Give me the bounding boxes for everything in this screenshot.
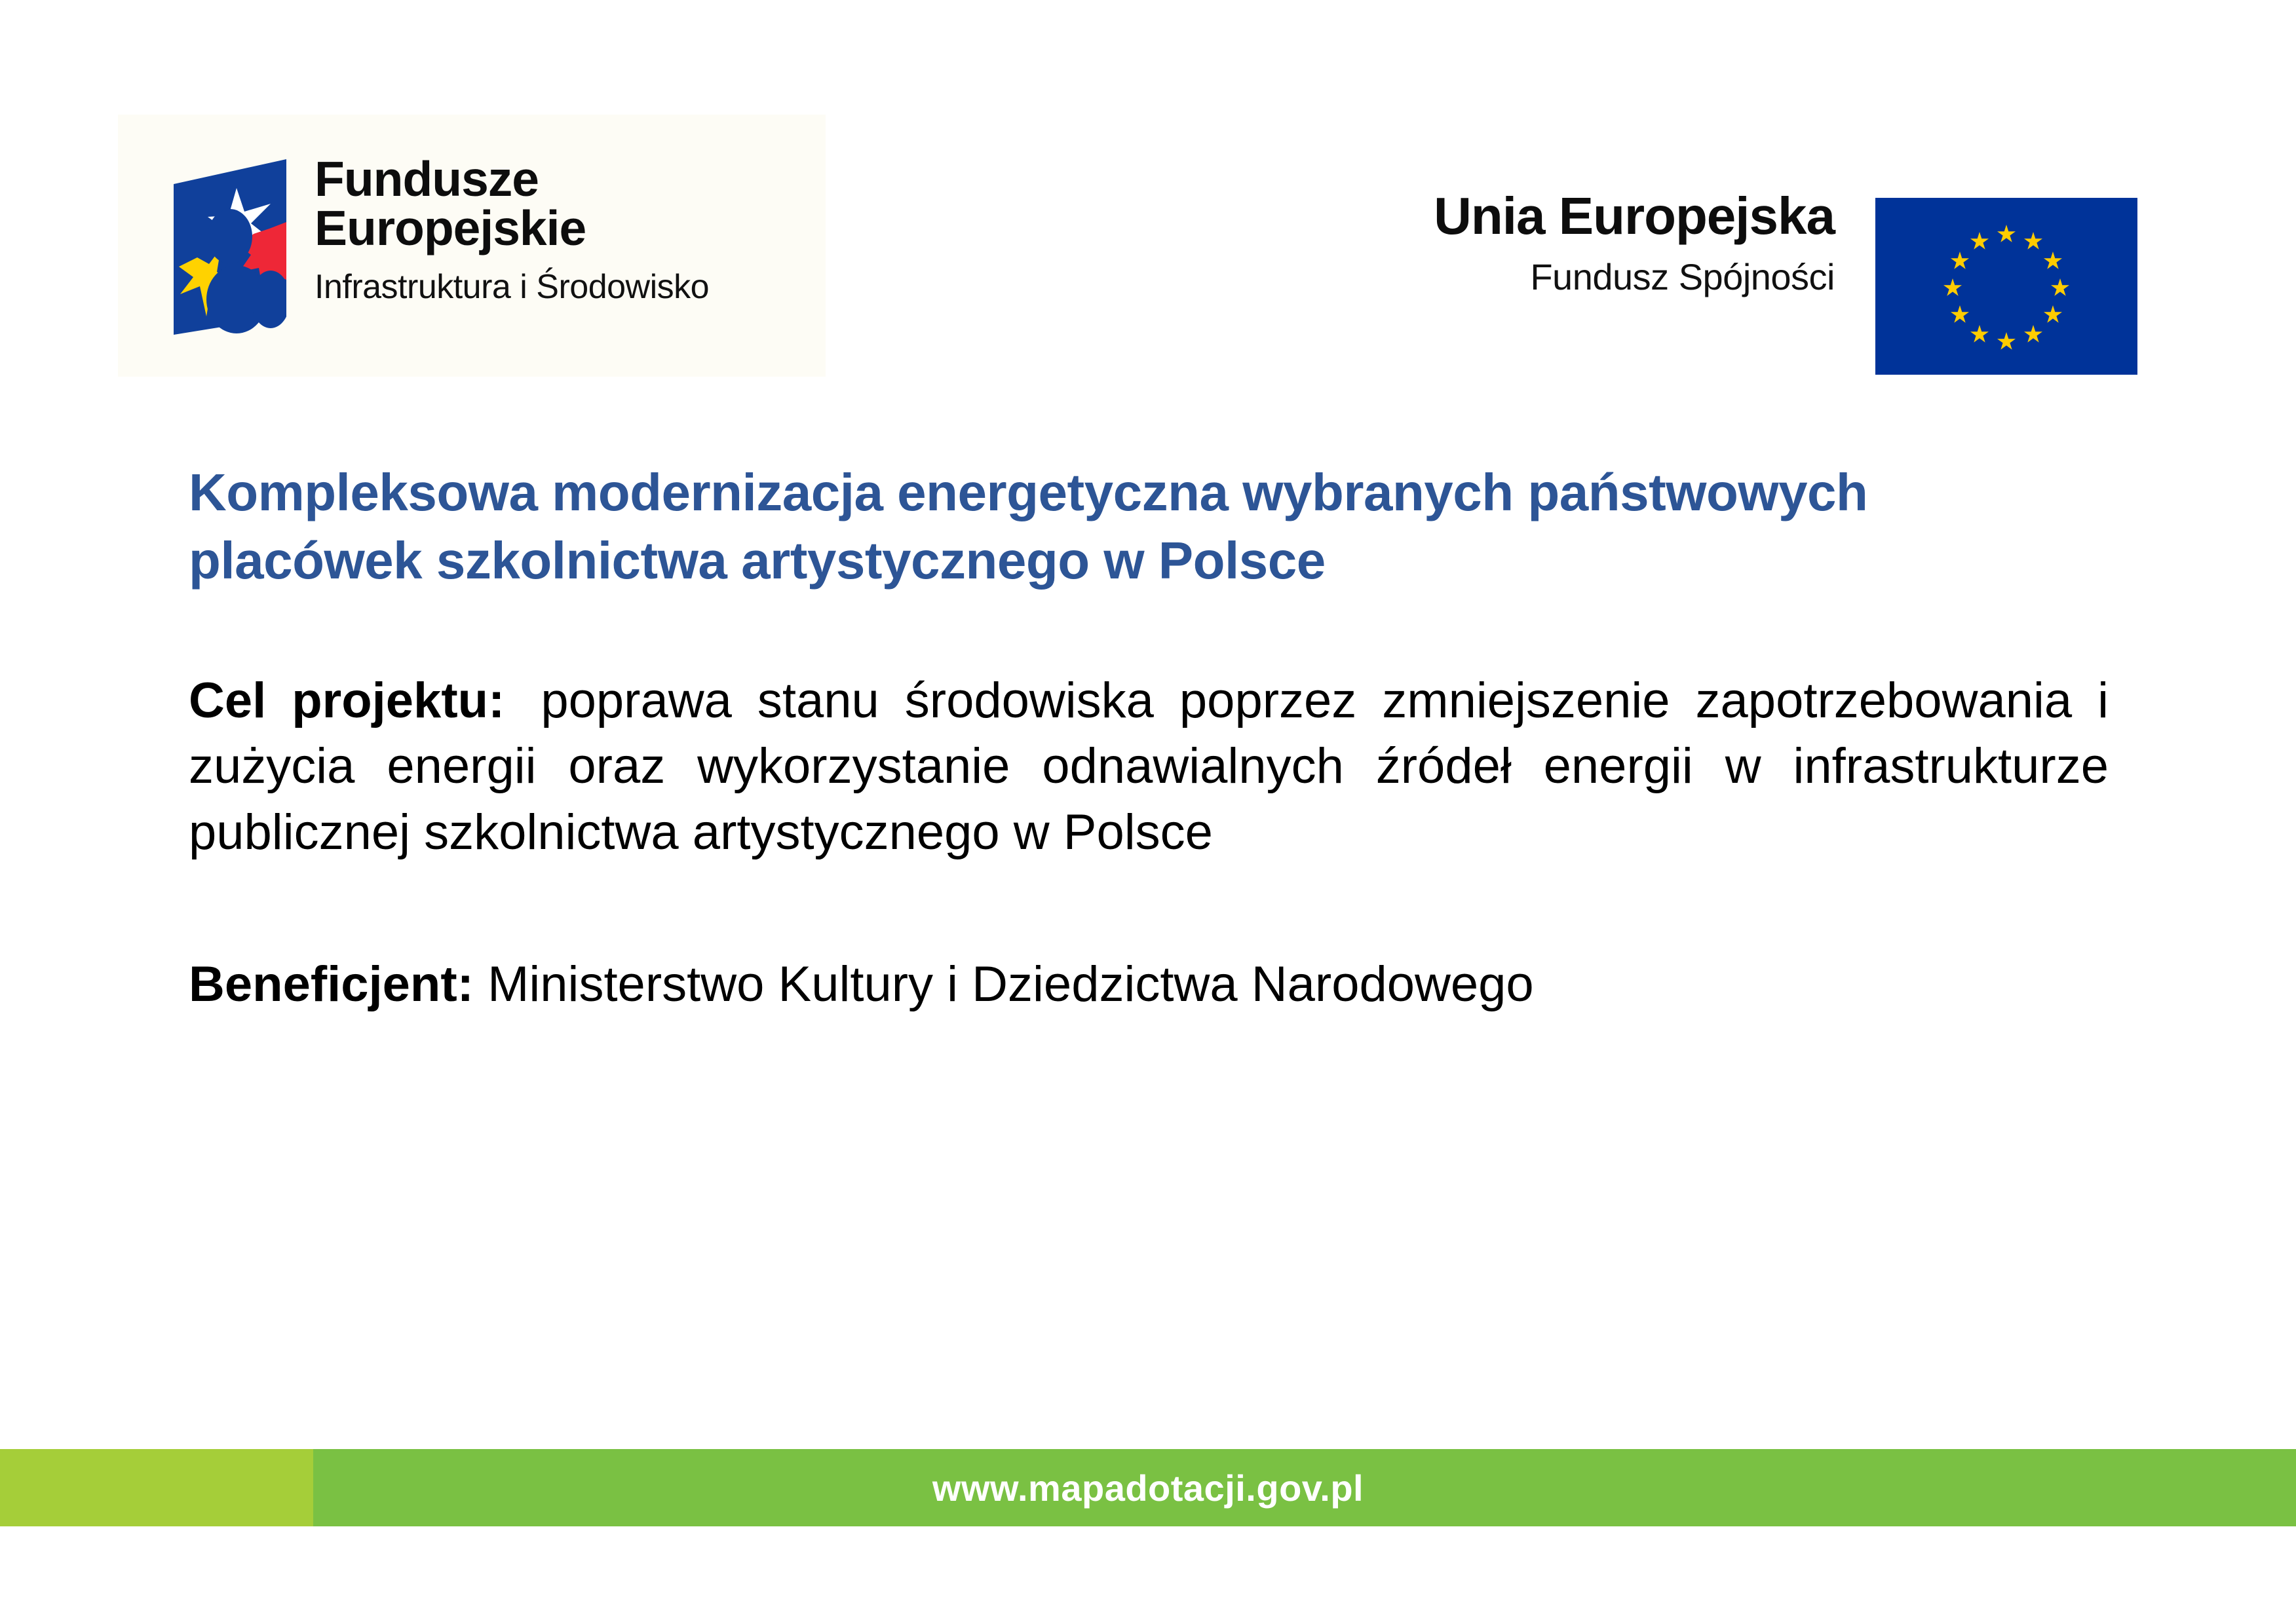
beneficiary-label: Beneficjent: bbox=[189, 956, 474, 1012]
unia-europejska-logo: Unia Europejska Fundusz Spójności bbox=[1324, 190, 2143, 387]
ue-logo-text: Unia Europejska Fundusz Spójności bbox=[1337, 190, 1835, 298]
footer-url-link[interactable]: www.mapadotacji.gov.pl bbox=[0, 1449, 2296, 1526]
ue-logo-line1: Unia Europejska bbox=[1337, 190, 1835, 242]
beneficiary-value: Ministerstwo Kultury i Dziedzictwa Narod… bbox=[488, 956, 1534, 1012]
footer-bar: www.mapadotacji.gov.pl bbox=[0, 1449, 2296, 1526]
beneficiary-paragraph: Beneficjent: Ministerstwo Kultury i Dzie… bbox=[189, 952, 2109, 1017]
fe-logo-subtitle: Infrastruktura i Środowisko bbox=[315, 267, 813, 307]
slide-canvas: Fundusze Europejskie Infrastruktura i Śr… bbox=[0, 0, 2296, 1622]
slide-content: Kompleksowa modernizacja energetyczna wy… bbox=[189, 459, 2109, 1067]
fundusze-europejskie-logo: Fundusze Europejskie Infrastruktura i Śr… bbox=[118, 115, 826, 377]
eu-flag-icon bbox=[1875, 198, 2137, 375]
project-goal-paragraph: Cel projektu:poprawa stanu środowiska po… bbox=[189, 668, 2109, 865]
ue-logo-subtitle: Fundusz Spójności bbox=[1337, 255, 1835, 298]
fe-flag-stars-mark-icon bbox=[174, 159, 286, 335]
fe-logo-text: Fundusze Europejskie Infrastruktura i Śr… bbox=[315, 155, 813, 307]
logo-bar: Fundusze Europejskie Infrastruktura i Śr… bbox=[0, 0, 2296, 419]
page-title: Kompleksowa modernizacja energetyczna wy… bbox=[189, 459, 2109, 595]
fe-logo-line1: Fundusze bbox=[315, 155, 813, 204]
project-goal-label: Cel projektu: bbox=[189, 673, 505, 728]
fe-logo-line2: Europejskie bbox=[315, 204, 813, 253]
